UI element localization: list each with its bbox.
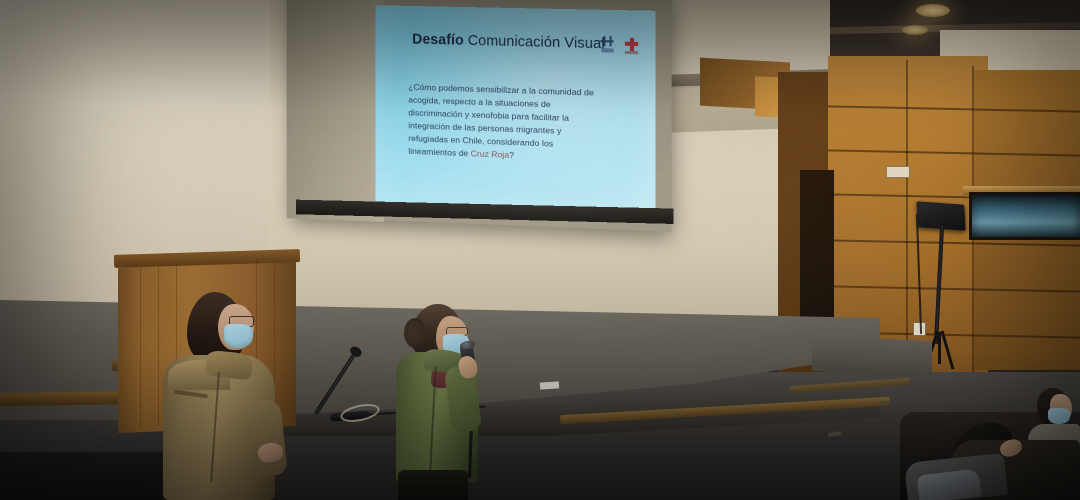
downlight-icon [916, 4, 950, 17]
wood-grain [140, 268, 141, 428]
slide-title-bold: Desafío [412, 32, 464, 49]
wall-sign [886, 166, 910, 178]
red-cross-logo-icon [625, 37, 639, 56]
panel-seam-vertical [906, 60, 908, 380]
projection-booth-window [969, 192, 1080, 240]
presenter-right-skirt [398, 470, 468, 500]
slide-logos [600, 36, 639, 55]
slide-title-regular: Comunicación Visual [464, 33, 605, 52]
puc-logo-icon [600, 36, 615, 55]
auditorium-photo: Desafío Comunicación Visual ¿Cómo podemo… [0, 0, 1080, 500]
wood-grain [158, 266, 159, 426]
slide-body-line-prefix: lineamientos de [408, 146, 470, 158]
stage-step [812, 335, 932, 377]
face-mask-icon [1048, 408, 1070, 424]
speaker-stand-leg [938, 332, 941, 364]
slide-title: Desafío Comunicación Visual [412, 32, 605, 53]
slide-body-text: ¿Cómo podemos sensibilizar a la comunida… [408, 81, 614, 167]
paper-on-floor [540, 381, 559, 389]
presenter-right-hair-curl [404, 318, 426, 348]
projected-slide: Desafío Comunicación Visual ¿Cómo podemo… [376, 5, 656, 214]
slide-body-line-suffix: ? [509, 150, 514, 160]
downlight-icon [902, 25, 928, 35]
slide-body-highlight: Cruz Roja [471, 149, 510, 161]
face-mask-icon [224, 324, 253, 348]
projection-screen-unlit-area [287, 0, 384, 222]
